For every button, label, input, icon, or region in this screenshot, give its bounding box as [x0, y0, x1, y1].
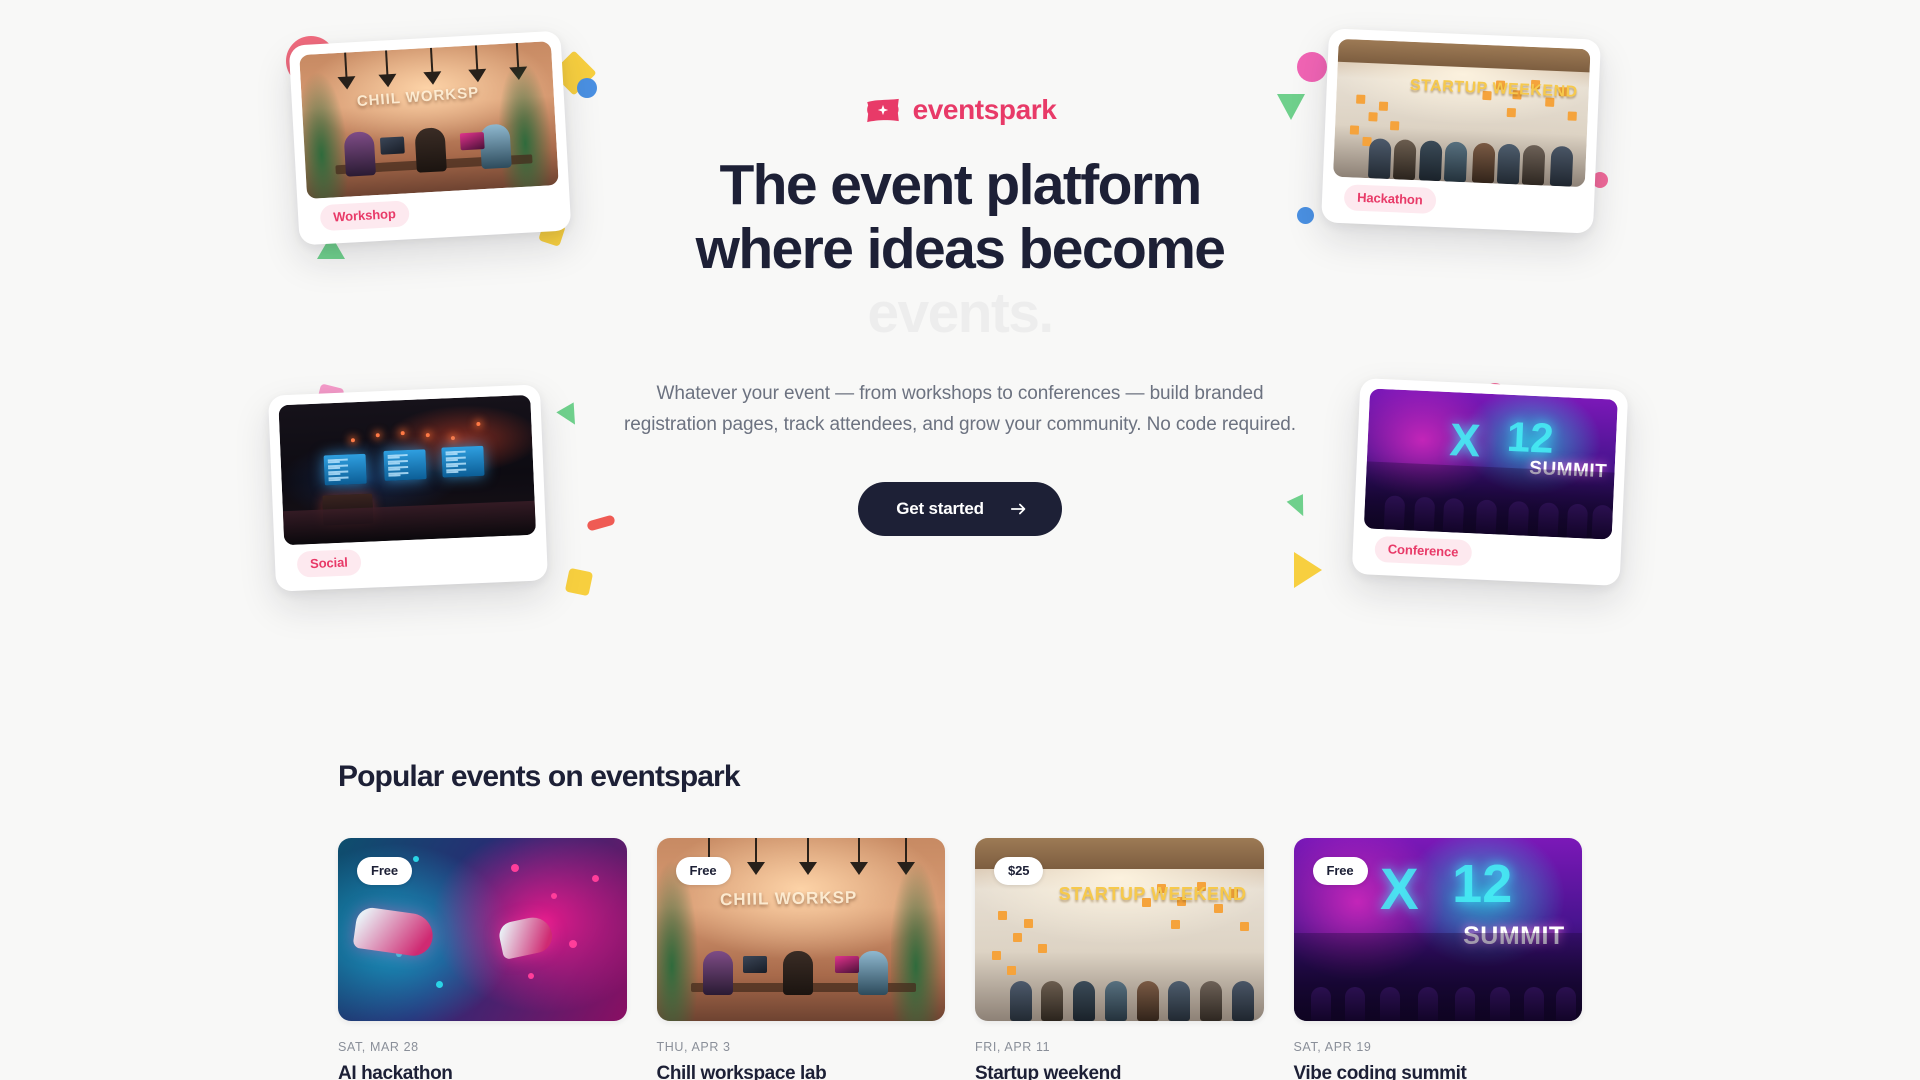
showcase-photo: CHIIL WORKSP [299, 41, 559, 199]
event-date: FRI, APR 11 [975, 1040, 1264, 1054]
showcase-photo [278, 395, 536, 545]
showcase-tag: Social [297, 549, 362, 578]
event-card[interactable]: $25 STARTUP WEEKEND [975, 838, 1264, 1080]
magenta-circle-decor [1297, 52, 1327, 82]
price-badge: $25 [994, 857, 1043, 885]
event-name: Chill workspace lab [657, 1063, 946, 1080]
event-card[interactable]: Free X 12 SUMMIT SAT, APR 19 Vi [1294, 838, 1583, 1080]
event-thumbnail: Free X 12 SUMMIT [1294, 838, 1583, 1021]
page-title: The event platform where ideas become ev… [580, 154, 1340, 345]
get-started-button[interactable]: Get started [858, 482, 1062, 536]
popular-events-section: Popular events on eventspark Free [0, 760, 1920, 1080]
hero-content: eventspark The event platform where idea… [580, 96, 1340, 536]
event-card[interactable]: Free [338, 838, 627, 1080]
events-grid: Free [338, 838, 1582, 1080]
price-badge: Free [357, 857, 412, 885]
showcase-tag: Hackathon [1344, 184, 1437, 214]
landing-page: CHIIL WORKSP Workshop [0, 0, 1920, 1080]
event-date: THU, APR 3 [657, 1040, 946, 1054]
showcase-photo: STARTUP WEEKEND [1333, 39, 1591, 187]
event-thumbnail: $25 STARTUP WEEKEND [975, 838, 1264, 1021]
get-started-label: Get started [896, 499, 984, 519]
brand-logo[interactable]: eventspark [580, 96, 1340, 124]
scene-coworking-studio: CHIIL WORKSP [299, 41, 559, 199]
showcase-card-workshop[interactable]: CHIIL WORKSP Workshop [289, 31, 572, 246]
price-badge: Free [1313, 857, 1368, 885]
arrow-right-icon [1010, 501, 1028, 517]
showcase-card-hackathon[interactable]: STARTUP WEEKEND Hackathon [1321, 28, 1601, 233]
scene-neon-stage: X 12 SUMMIT [1364, 388, 1618, 539]
yellow-square-decor-b [565, 568, 593, 596]
price-badge: Free [676, 857, 731, 885]
event-card[interactable]: Free CHIIL WORKSP T [657, 838, 946, 1080]
photo-wall-text: STARTUP WEEKEND [1410, 78, 1578, 101]
ticket-icon [864, 97, 902, 123]
showcase-card-conference[interactable]: X 12 SUMMIT Conference [1352, 378, 1629, 586]
event-date: SAT, APR 19 [1294, 1040, 1583, 1054]
event-name: AI hackathon [338, 1063, 627, 1080]
hero-subtitle: Whatever your event — from workshops to … [580, 379, 1340, 439]
yellow-triangle-decor [1294, 552, 1336, 588]
brand-name: eventspark [913, 96, 1057, 124]
showcase-tag: Workshop [320, 200, 410, 231]
event-name: Vibe coding summit [1294, 1063, 1583, 1080]
scene-sticky-note-wall: STARTUP WEEKEND [1333, 39, 1591, 187]
showcase-photo: X 12 SUMMIT [1364, 388, 1618, 539]
photo-wall-text: CHIIL WORKSP [720, 888, 858, 910]
photo-wall-text: CHIIL WORKSP [357, 84, 480, 110]
headline-line-3: events. [580, 282, 1340, 346]
event-date: SAT, MAR 28 [338, 1040, 627, 1054]
scene-dark-neon-lounge [278, 395, 536, 545]
showcase-tag: Conference [1374, 536, 1472, 566]
event-name: Startup weekend [975, 1063, 1264, 1080]
event-thumbnail: Free [338, 838, 627, 1021]
blue-circle-decor [577, 78, 597, 98]
cta-container: Get started [580, 482, 1340, 536]
event-thumbnail: Free CHIIL WORKSP [657, 838, 946, 1021]
photo-wall-text: STARTUP WEEKEND [1059, 886, 1247, 904]
headline-line-2: where ideas become [580, 218, 1340, 282]
hero-section: CHIIL WORKSP Workshop [0, 0, 1920, 700]
showcase-card-social[interactable]: Social [268, 384, 548, 591]
popular-events-title: Popular events on eventspark [338, 760, 1582, 794]
headline-line-1: The event platform [580, 154, 1340, 218]
